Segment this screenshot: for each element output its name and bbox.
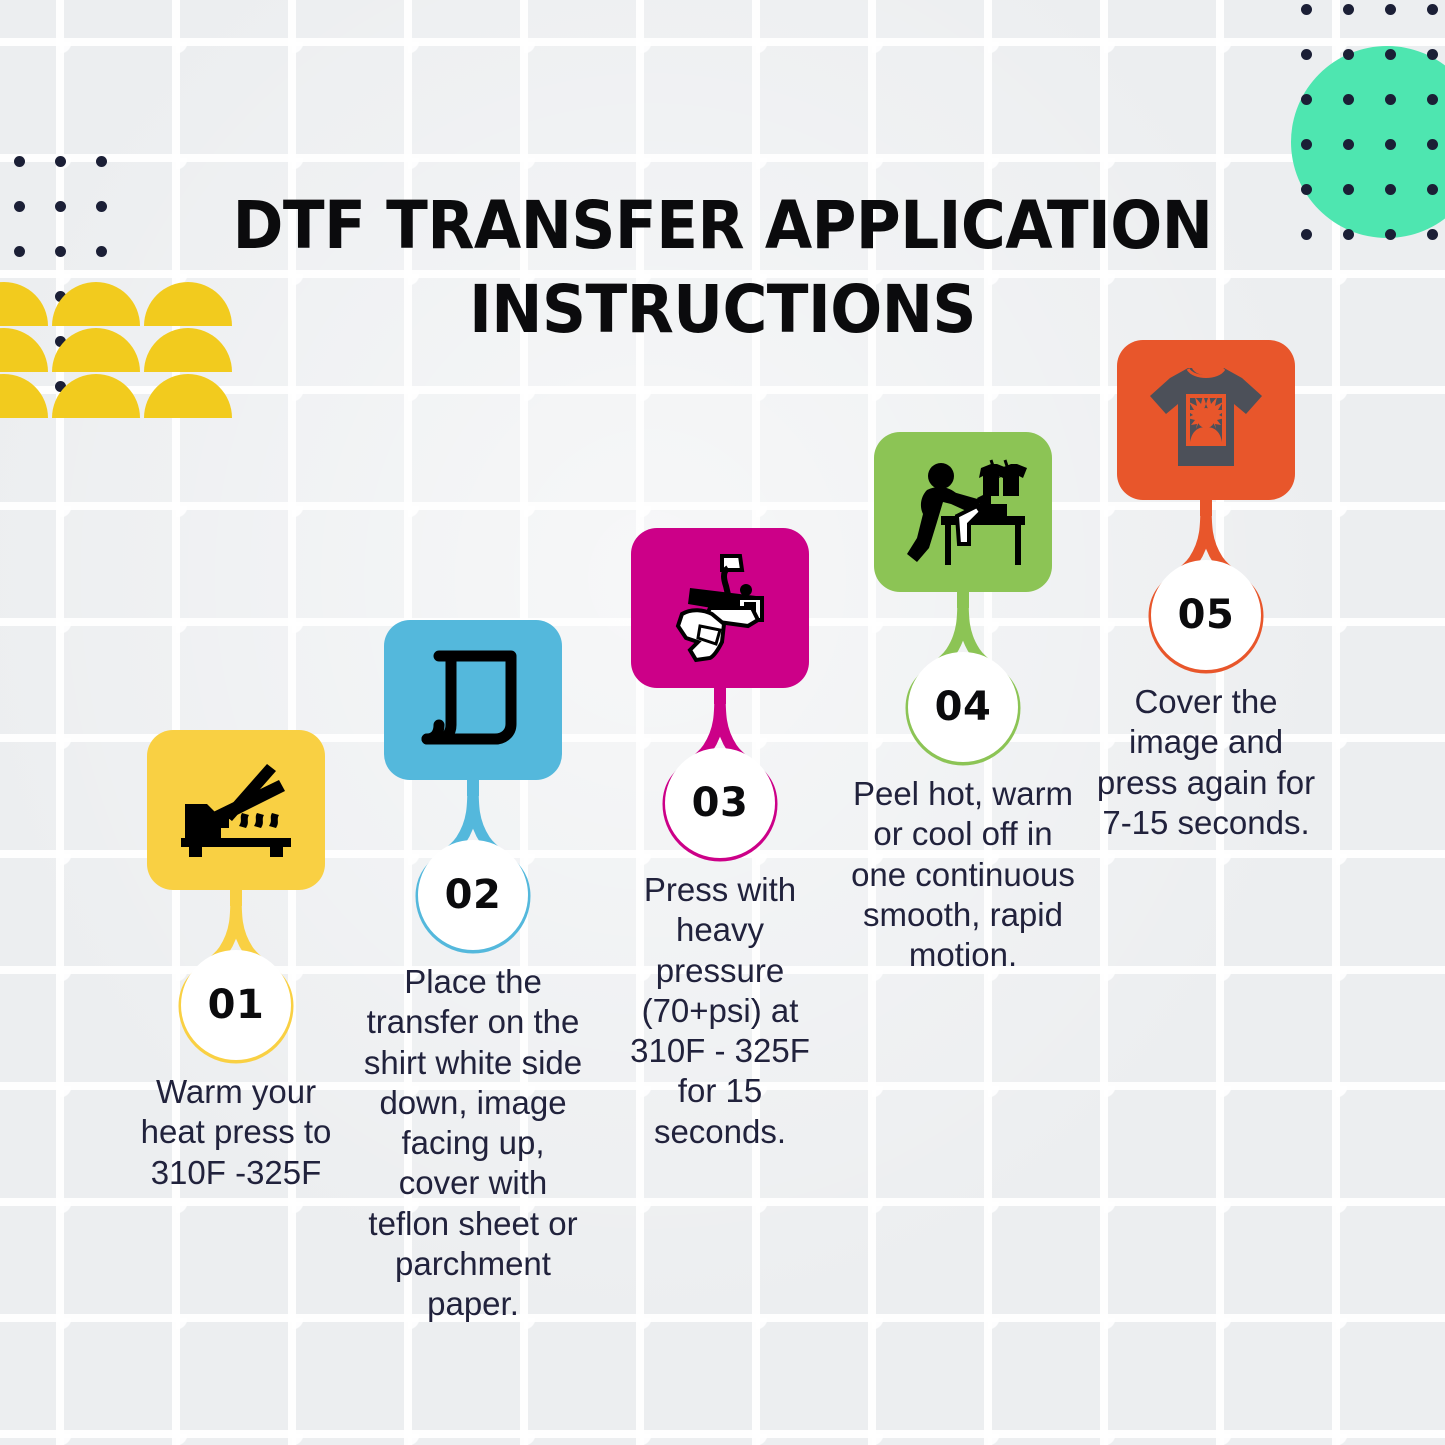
step-card-03 <box>631 528 809 688</box>
step-number-03: 03 <box>692 780 749 826</box>
step-number-05: 05 <box>1178 592 1235 638</box>
step-card-05 <box>1117 340 1295 500</box>
step-item-04[interactable]: 04 Peel hot, warm or cool off in one con… <box>845 432 1081 975</box>
step-number-01: 01 <box>208 982 265 1028</box>
step-connector-01: 01 <box>118 888 354 1066</box>
heat-press-open-icon <box>175 758 297 862</box>
transfer-sheet-icon <box>419 648 527 752</box>
printed-tshirt-icon <box>1144 362 1268 478</box>
step-number-badge-05: 05 <box>1151 560 1261 670</box>
step-item-02[interactable]: 02 Place the transfer on the shirt white… <box>355 620 591 1324</box>
step-connector-02: 02 <box>355 778 591 956</box>
peel-transfer-person-icon <box>897 454 1029 570</box>
step-number-02: 02 <box>445 872 502 918</box>
step-card-01 <box>147 730 325 890</box>
heat-press-machine-icon <box>660 552 780 664</box>
step-connector-03: 03 <box>602 686 838 864</box>
step-number-badge-02: 02 <box>418 840 528 950</box>
step-caption-01: Warm your heat press to 310F -325F <box>118 1072 354 1193</box>
step-caption-04: Peel hot, warm or cool off in one contin… <box>845 774 1081 975</box>
step-item-05[interactable]: 05 Cover the image and press again for 7… <box>1088 340 1324 843</box>
step-number-badge-04: 04 <box>908 652 1018 762</box>
step-card-04 <box>874 432 1052 592</box>
step-item-03[interactable]: 03 Press with heavy pressure (70+psi) at… <box>602 528 838 1152</box>
step-connector-04: 04 <box>845 590 1081 768</box>
step-item-01[interactable]: 01 Warm your heat press to 310F -325F <box>118 730 354 1193</box>
step-number-badge-03: 03 <box>665 748 775 858</box>
step-caption-02: Place the transfer on the shirt white si… <box>355 962 591 1324</box>
step-card-02 <box>384 620 562 780</box>
step-caption-05: Cover the image and press again for 7-15… <box>1088 682 1324 843</box>
steps-container: 01 Warm your heat press to 310F -325F <box>0 0 1445 1445</box>
step-caption-03: Press with heavy pressure (70+psi) at 31… <box>602 870 838 1152</box>
step-number-badge-01: 01 <box>181 950 291 1060</box>
step-connector-05: 05 <box>1088 498 1324 676</box>
step-number-04: 04 <box>935 684 992 730</box>
